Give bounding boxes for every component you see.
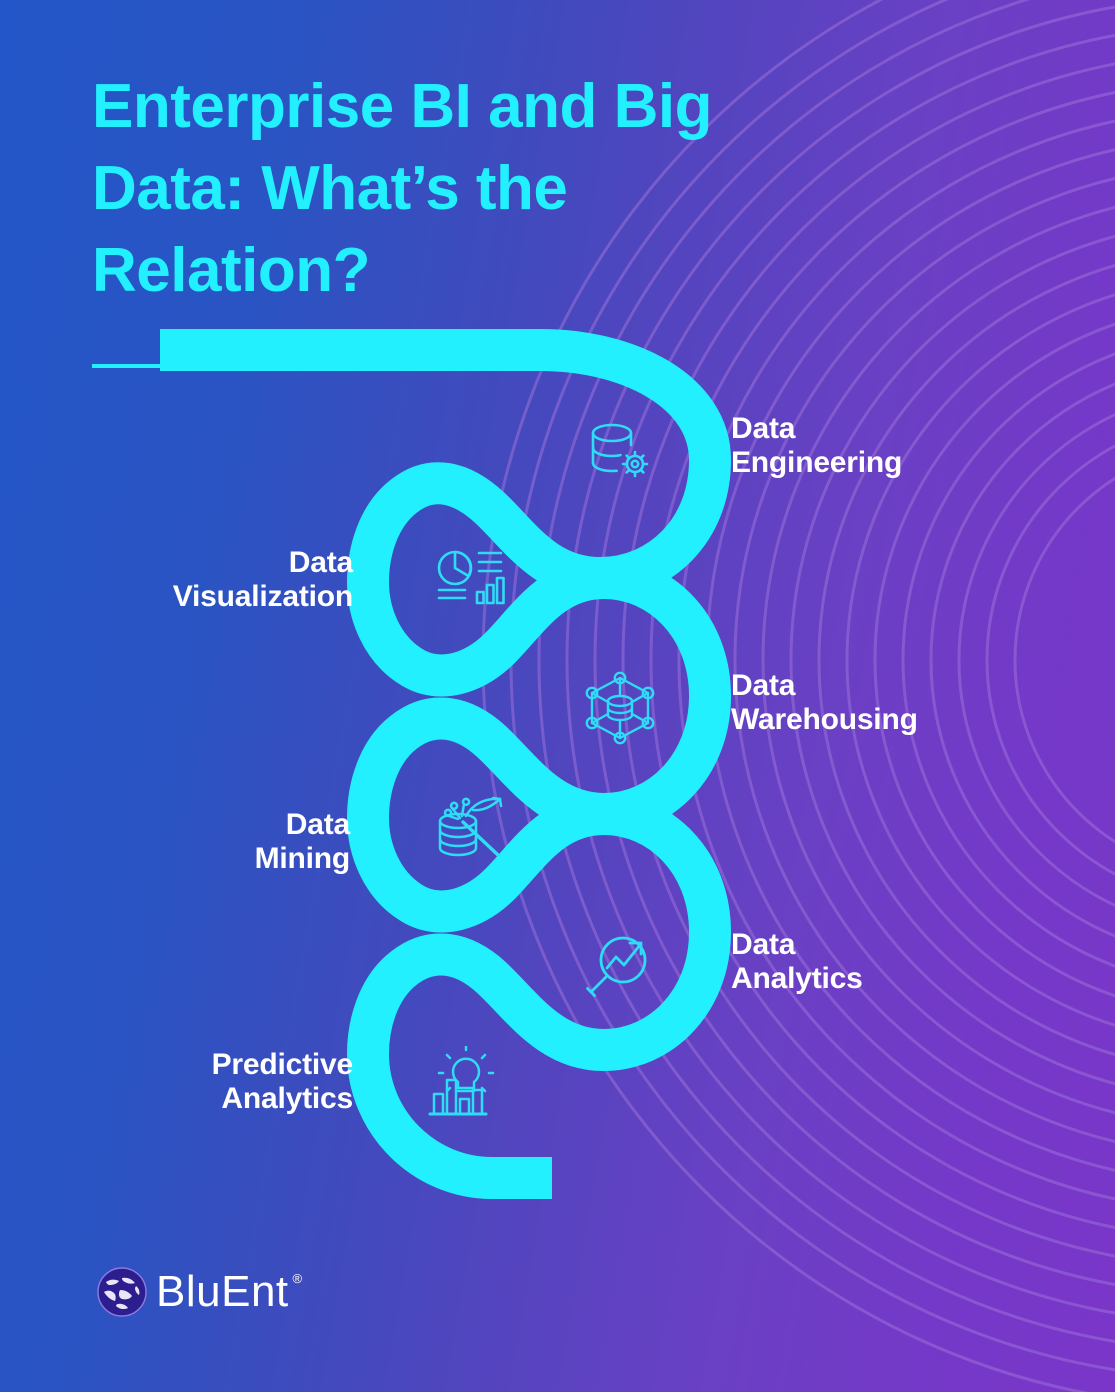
label-line-2: Warehousing bbox=[731, 703, 918, 737]
label-line-2: Analytics bbox=[731, 962, 863, 996]
label-line-2: Engineering bbox=[731, 446, 902, 480]
path-start-cap bbox=[160, 329, 190, 371]
icon-database-gear-icon bbox=[585, 418, 655, 493]
icon-pie-bar-chart-icon bbox=[435, 548, 507, 619]
page-title: Enterprise BI and Big Data: What’s the R… bbox=[92, 66, 892, 311]
title-line-2: Data: What’s the bbox=[92, 148, 892, 230]
label-line-1: Data bbox=[731, 928, 863, 962]
label-predictive-analytics: Predictive Analytics bbox=[212, 1048, 353, 1115]
label-line-1: Predictive bbox=[212, 1048, 353, 1082]
label-line-1: Data bbox=[173, 546, 353, 580]
logo-wordmark: BluEnt ® bbox=[156, 1267, 289, 1317]
label-data-mining: Data Mining bbox=[255, 808, 350, 875]
icon-lightbulb-bars-icon bbox=[428, 1046, 498, 1127]
label-line-2: Visualization bbox=[173, 580, 353, 614]
logo-name: BluEnt bbox=[156, 1267, 289, 1316]
registered-trademark-icon: ® bbox=[293, 1271, 303, 1286]
label-line-2: Analytics bbox=[212, 1082, 353, 1116]
title-line-3: Relation? bbox=[92, 230, 892, 312]
brand-logo: BluEnt ® bbox=[96, 1266, 289, 1318]
title-line-1: Enterprise BI and Big bbox=[92, 66, 892, 148]
label-line-2: Mining bbox=[255, 842, 350, 876]
label-line-1: Data bbox=[731, 669, 918, 703]
icon-magnifier-trend-icon bbox=[583, 928, 659, 1009]
label-line-1: Data bbox=[255, 808, 350, 842]
icon-network-database-icon bbox=[582, 668, 658, 753]
globe-icon bbox=[96, 1266, 148, 1318]
icon-database-pickaxe-icon bbox=[432, 788, 510, 871]
infographic-poster: Enterprise BI and Big Data: What’s the R… bbox=[0, 0, 1115, 1392]
label-data-engineering: Data Engineering bbox=[731, 412, 902, 479]
label-data-visualization: Data Visualization bbox=[173, 546, 353, 613]
label-data-warehousing: Data Warehousing bbox=[731, 669, 918, 736]
label-line-1: Data bbox=[731, 412, 902, 446]
label-data-analytics: Data Analytics bbox=[731, 928, 863, 995]
